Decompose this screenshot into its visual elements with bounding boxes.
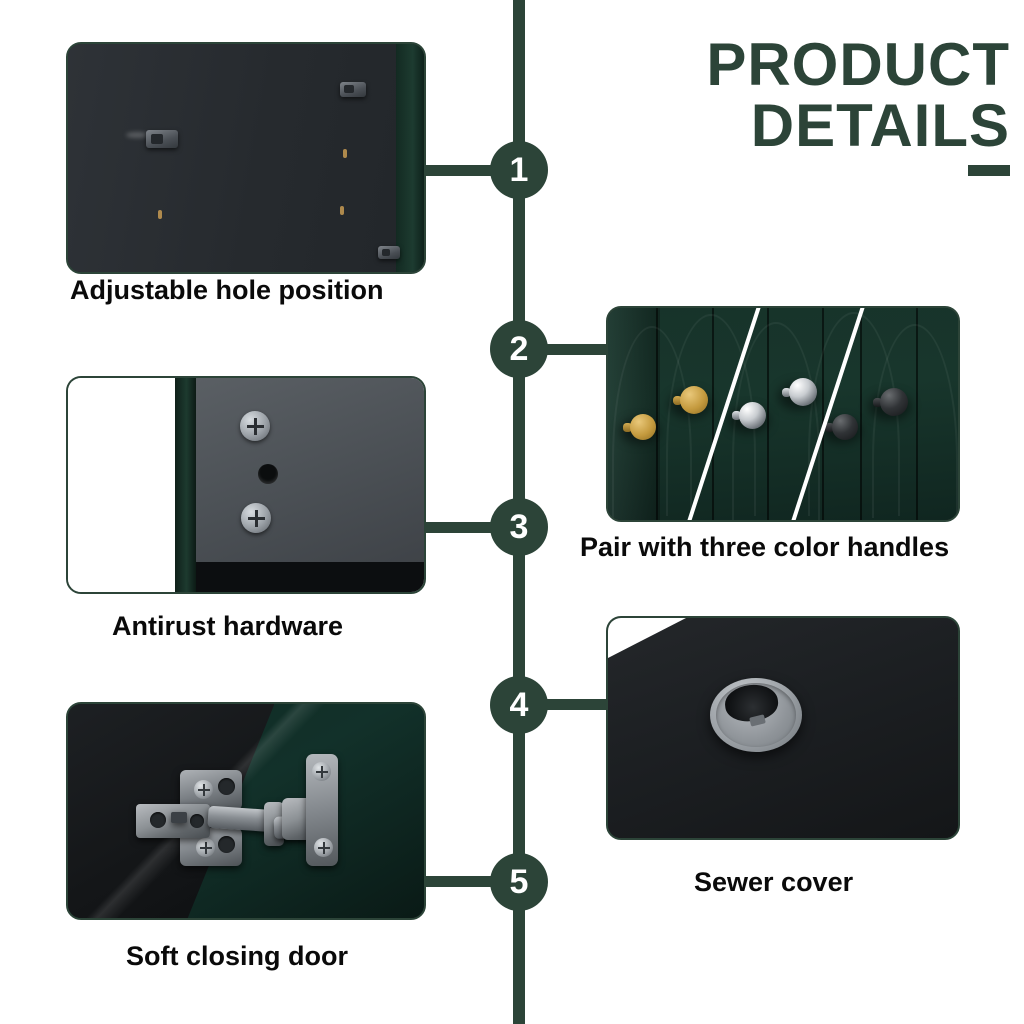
connector-step-2 (538, 344, 610, 355)
hole-marker-3 (340, 206, 344, 215)
hinge-adjust-hole-2 (190, 814, 204, 828)
cabinet-green-edge (175, 378, 196, 592)
step-badge-5[interactable]: 5 (490, 853, 548, 911)
mounting-screw-bottom (314, 838, 333, 857)
caption-step-2: Pair with three color handles (580, 533, 949, 563)
title-underline-dash (968, 165, 1010, 176)
screw-top (240, 411, 270, 441)
hinge-adjust-hole-1 (150, 812, 166, 828)
photo-cabinet-back-panel (68, 44, 424, 272)
hole-marker-1 (158, 210, 162, 219)
photo-card-step-3 (66, 376, 426, 594)
page-title-line-2: DETAILS (590, 95, 1010, 156)
mounting-screw-top (312, 762, 331, 781)
center-hole (258, 464, 278, 484)
page-title: PRODUCT DETAILS (590, 34, 1010, 176)
photo-fluted-doors-knobs (608, 308, 958, 520)
step-badge-4[interactable]: 4 (490, 676, 548, 734)
step-badge-3[interactable]: 3 (490, 498, 548, 556)
corner-cut-white (608, 618, 686, 658)
step-badge-1[interactable]: 1 (490, 141, 548, 199)
handle-black-1 (832, 414, 858, 440)
caption-step-3: Antirust hardware (112, 612, 343, 642)
dark-bottom-band (196, 562, 424, 592)
connector-step-3 (420, 522, 500, 533)
screw-bottom (241, 503, 271, 533)
photo-soft-closing-hinge (68, 704, 424, 918)
metal-mounting-plate (196, 378, 424, 562)
hinge-cup-hole-upper (218, 778, 235, 795)
hinge-plate-bottom-right (378, 246, 400, 259)
hinge-plate-top-right (340, 82, 366, 97)
photo-card-step-5 (66, 702, 426, 920)
caption-step-5: Soft closing door (126, 942, 348, 972)
panel-highlight (126, 132, 148, 138)
photo-card-step-1 (66, 42, 426, 274)
step-badge-2[interactable]: 2 (490, 320, 548, 378)
photo-card-step-2 (606, 306, 960, 522)
hinge-screw-upper (194, 780, 213, 799)
white-background-area (68, 378, 175, 592)
handle-gold-2 (680, 386, 708, 414)
hole-marker-2 (343, 149, 347, 158)
connector-step-1 (416, 165, 500, 176)
handle-black-2 (880, 388, 908, 416)
hinge-plate-left (146, 130, 178, 148)
connector-step-5 (420, 876, 500, 887)
hinge-cup-hole-lower (218, 836, 235, 853)
panel-green-edge (396, 44, 424, 272)
photo-card-step-4 (606, 616, 960, 840)
handle-chrome-1 (739, 402, 766, 429)
grommet-ring (710, 678, 802, 752)
caption-step-1: Adjustable hole position (70, 276, 384, 306)
hinge-slot (171, 812, 187, 823)
caption-step-4: Sewer cover (694, 868, 853, 898)
page-title-line-1: PRODUCT (590, 34, 1010, 95)
photo-sewer-cover (608, 618, 958, 838)
handle-gold-1 (630, 414, 656, 440)
connector-step-4 (538, 699, 610, 710)
photo-antirust-hardware (68, 378, 424, 592)
product-details-infographic: PRODUCT DETAILS Adjustable hole position… (0, 0, 1024, 1024)
handle-chrome-2 (789, 378, 817, 406)
hinge-screw-lower (196, 838, 215, 857)
